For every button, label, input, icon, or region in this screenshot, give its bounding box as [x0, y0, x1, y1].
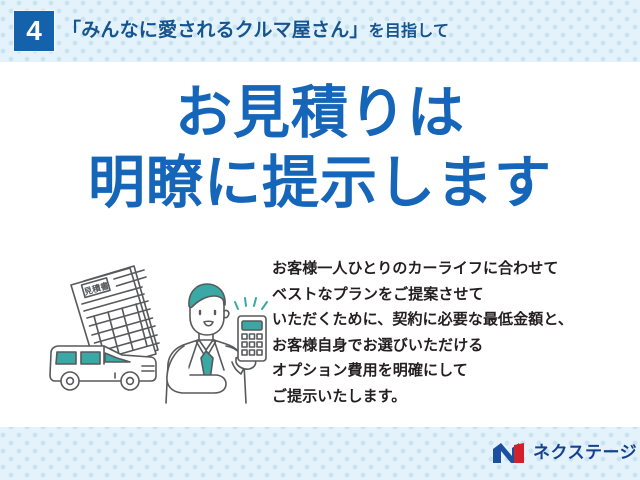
- body-paragraph: お客様一人ひとりのカーライフに合わせて ベストなプランをご提案させて いただくた…: [272, 256, 632, 409]
- illustration-salesman-quotation: 見積書: [38, 254, 274, 404]
- advertisement-page: 4 「みんなに愛されるクルマ屋さん」を目指して お見積りは 明瞭に提示します 見…: [0, 0, 640, 480]
- header-title: 「みんなに愛されるクルマ屋さん」を目指して: [62, 13, 622, 49]
- headline-line-1: お見積りは: [0, 78, 640, 148]
- section-number-badge: 4: [14, 11, 54, 51]
- header-band: 4 「みんなに愛されるクルマ屋さん」を目指して: [0, 0, 640, 62]
- headline-line-2: 明瞭に提示します: [0, 148, 640, 218]
- header-title-tail: を目指して: [369, 23, 450, 40]
- illustration-svg: 見積書: [38, 254, 274, 404]
- content-card: お見積りは 明瞭に提示します 見積書: [0, 62, 640, 427]
- headline: お見積りは 明瞭に提示します: [0, 78, 640, 218]
- nextage-n-mark-icon: [492, 442, 526, 464]
- brand-name: ネクステージ: [533, 442, 637, 464]
- header-title-main: 「みんなに愛されるクルマ屋さん」: [62, 20, 369, 41]
- brand-footer: ネクステージ: [492, 440, 637, 466]
